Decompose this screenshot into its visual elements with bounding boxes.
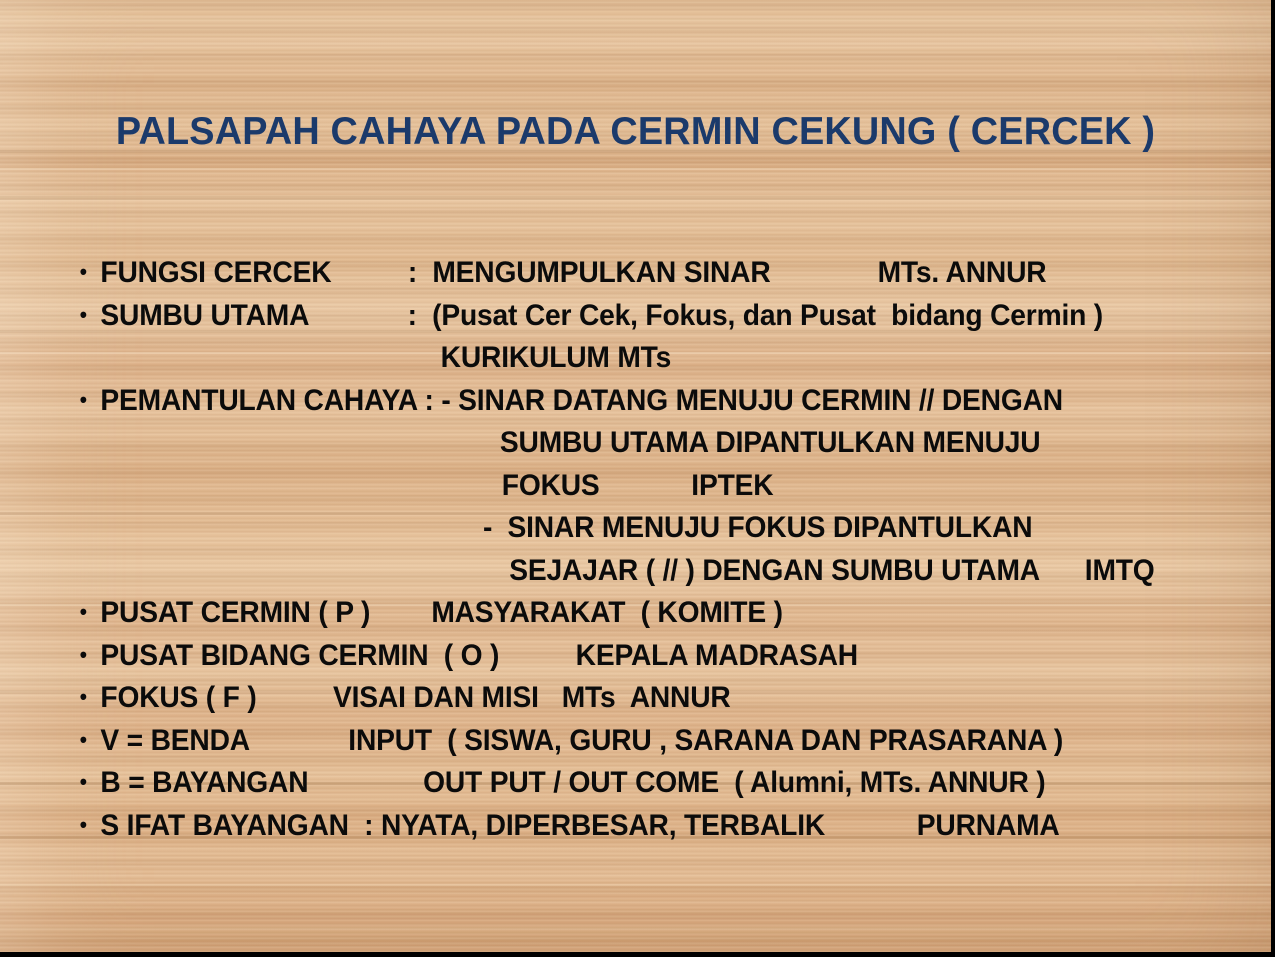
bullet-line: •FUNGSI CERCEK : MENGUMPULKAN SINAR MTs.… <box>0 222 1199 265</box>
bullet-line: •PEMANTULAN CAHAYA : - SINAR DATANG MENU… <box>0 350 1199 393</box>
continuation-line: FOKUS IPTEK <box>0 435 1199 478</box>
continuation-line: KURIKULUM MTs <box>0 307 1199 350</box>
bullet-line: •SUMBU UTAMA : (Pusat Cer Cek, Fokus, da… <box>0 265 1199 308</box>
slide-body: •FUNGSI CERCEK : MENGUMPULKAN SINAR MTs.… <box>0 222 1275 817</box>
continuation-line: SUMBU UTAMA DIPANTULKAN MENUJU <box>0 392 1199 435</box>
bullet-line: •S IFAT BAYANGAN : NYATA, DIPERBESAR, TE… <box>0 775 1199 818</box>
bullet-line: •V = BENDA INPUT ( SISWA, GURU , SARANA … <box>0 690 1199 733</box>
bullet-line: •PUSAT BIDANG CERMIN ( O ) KEPALA MADRAS… <box>0 605 1199 648</box>
slide-title: PALSAPAH CAHAYA PADA CERMIN CEKUNG ( CER… <box>19 110 1252 154</box>
continuation-line: SEJAJAR ( // ) DENGAN SUMBU UTAMA IMTQ <box>0 520 1199 563</box>
bullet-line-text: S IFAT BAYANGAN : NYATA, DIPERBESAR, TER… <box>100 809 1059 843</box>
bullet-line: •B = BAYANGAN OUT PUT / OUT COME ( Alumn… <box>0 732 1199 775</box>
wood-grain-streak <box>0 884 1271 886</box>
bullet-line: •PUSAT CERMIN ( P ) MASYARAKAT ( KOMITE … <box>0 562 1199 605</box>
bullet-marker: • <box>80 812 101 838</box>
presentation-slide: PALSAPAH CAHAYA PADA CERMIN CEKUNG ( CER… <box>0 0 1275 957</box>
wood-grain-streak <box>0 196 1271 200</box>
wood-grain-streak <box>0 168 1271 170</box>
continuation-line: - SINAR MENUJU FOKUS DIPANTULKAN <box>0 477 1199 520</box>
bullet-line: •FOKUS ( F ) VISAI DAN MISI MTs ANNUR <box>0 647 1199 690</box>
